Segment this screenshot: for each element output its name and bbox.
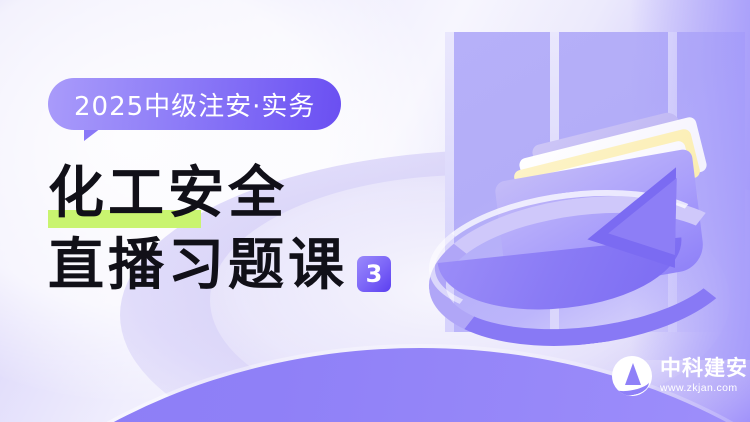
title-line-1-text: 化工安全 xyxy=(48,158,288,230)
page-title: 化工安全 直播习题课 3 xyxy=(48,158,391,302)
illustration-folder-with-documents-and-arrow xyxy=(400,0,750,360)
episode-number-badge: 3 xyxy=(357,256,391,292)
brand-website: www.zkjan.com xyxy=(660,383,748,394)
brand-name: 中科建安 xyxy=(660,358,748,379)
title-line-2: 直播习题课 3 xyxy=(48,230,391,302)
course-category-pill: 2025中级注安·实务 xyxy=(48,78,341,130)
brand-logo-text: 中科建安 www.zkjan.com xyxy=(660,358,748,394)
brand-logo[interactable]: 中科建安 www.zkjan.com xyxy=(612,356,748,396)
logo-swoosh-icon xyxy=(614,373,650,396)
title-line-2-text: 直播习题课 xyxy=(48,230,348,302)
title-line-1: 化工安全 xyxy=(48,158,391,230)
brand-mark-icon xyxy=(612,356,652,396)
course-category-label: 2025中级注安·实务 xyxy=(74,86,315,123)
course-promo-banner: 2025中级注安·实务 化工安全 直播习题课 3 中科建安 www.zkjan.… xyxy=(0,0,750,422)
